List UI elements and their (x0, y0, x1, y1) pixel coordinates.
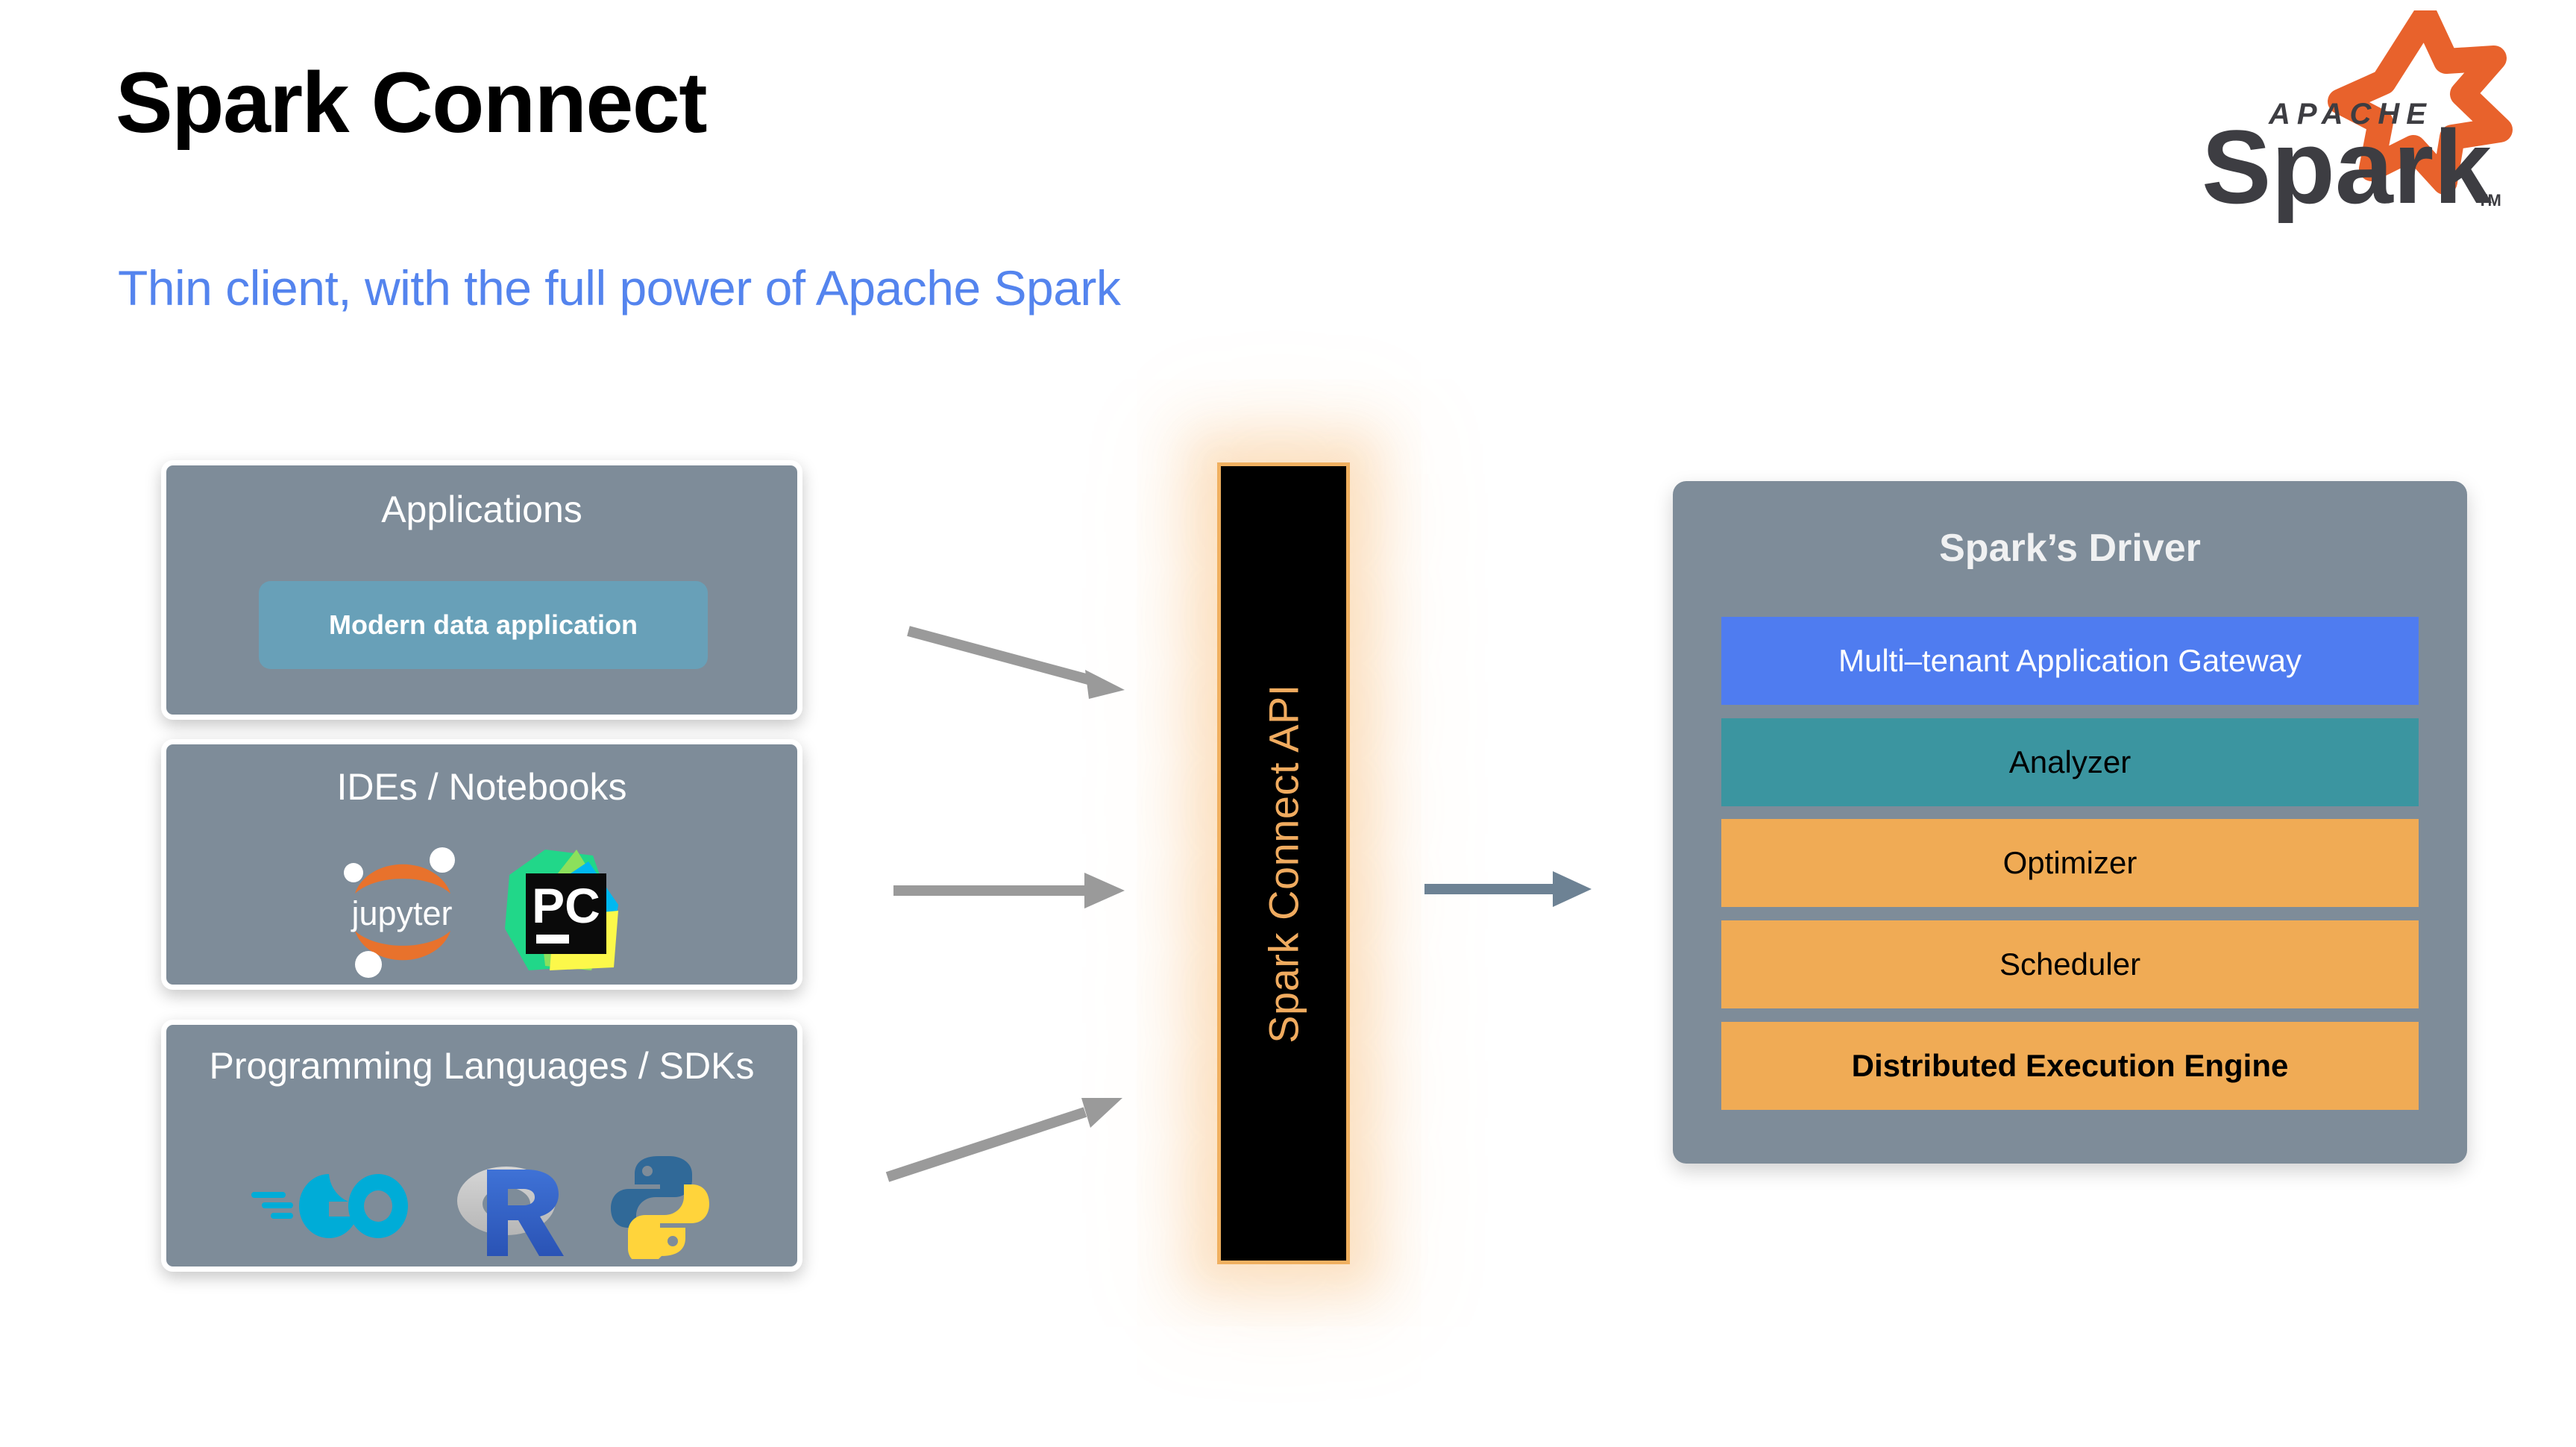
client-box-ides-notebooks[interactable]: IDEs / Notebooks jupyter (161, 739, 802, 990)
pycharm-logo: PC (502, 847, 627, 975)
arrow-languages-to-api (888, 1098, 1122, 1177)
spark-driver-title: Spark’s Driver (1673, 526, 2467, 571)
driver-row[interactable]: Multi–tenant Application Gateway (1721, 617, 2419, 705)
spark-connect-api-bar[interactable]: Spark Connect API (1217, 462, 1350, 1264)
page-subtitle: Thin client, with the full power of Apac… (118, 261, 1120, 316)
ide-logo-row: jupyter PC (166, 840, 797, 982)
pycharm-wordmark: PC (532, 878, 600, 933)
modern-data-application-chip[interactable]: Modern data application (259, 581, 708, 669)
apache-spark-logo: APACHE Spark TM (2157, 10, 2530, 223)
logo-spark-text: Spark (2202, 108, 2492, 223)
driver-row[interactable]: Optimizer (1721, 819, 2419, 907)
client-box-programming-languages[interactable]: Programming Languages / SDKs (161, 1020, 802, 1272)
arrow-api-to-driver (1424, 871, 1592, 907)
spark-connect-api-label: Spark Connect API (1260, 684, 1308, 1043)
slide-canvas: Spark Connect Thin client, with the full… (0, 0, 2576, 1447)
client-box-title: IDEs / Notebooks (166, 765, 797, 809)
page-title: Spark Connect (116, 58, 706, 148)
go-logo (251, 1165, 412, 1247)
driver-row[interactable]: Analyzer (1721, 718, 2419, 806)
client-box-title: Applications (166, 488, 797, 532)
arrow-applications-to-api (908, 631, 1125, 699)
jupyter-wordmark: jupyter (350, 894, 452, 932)
logo-trademark-text: TM (2478, 191, 2501, 210)
arrow-ides-to-api (893, 873, 1125, 908)
language-logo-row: R (166, 1137, 797, 1275)
client-box-title: Programming Languages / SDKs (166, 1044, 797, 1088)
spark-driver-panel[interactable]: Spark’s Driver Multi–tenant Application … (1673, 481, 2467, 1164)
client-box-applications[interactable]: Applications Modern data application (161, 460, 802, 720)
python-logo (608, 1153, 712, 1259)
driver-row[interactable]: Distributed Execution Engine (1721, 1022, 2419, 1110)
driver-row[interactable]: Scheduler (1721, 920, 2419, 1008)
r-logo: R (454, 1150, 566, 1262)
jupyter-logo: jupyter (337, 843, 468, 979)
